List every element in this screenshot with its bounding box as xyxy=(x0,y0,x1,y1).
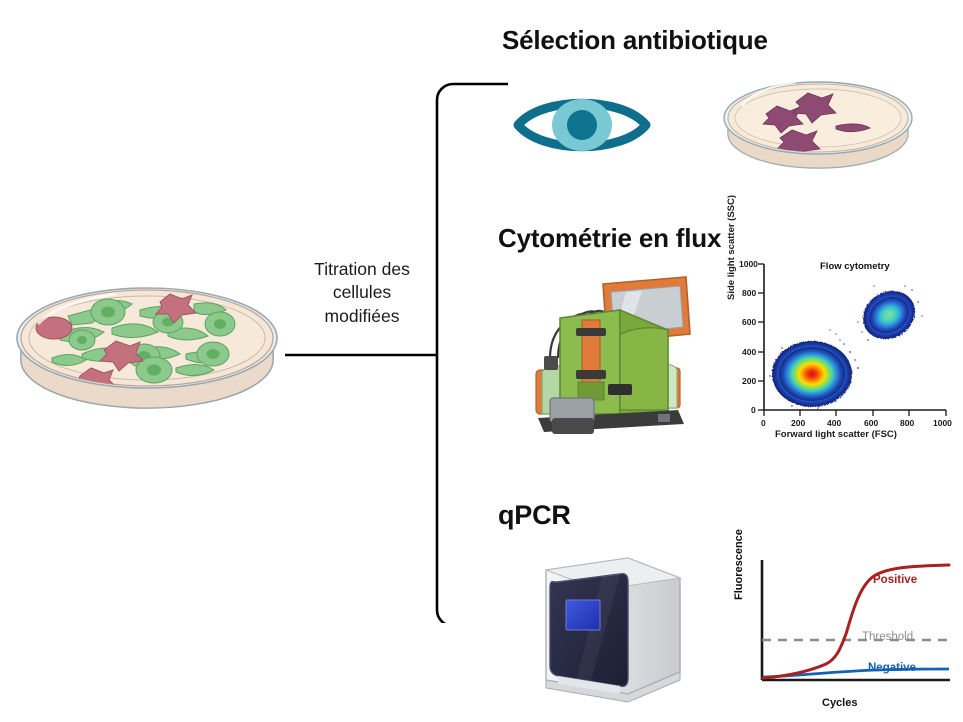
flow-xtick-600: 600 xyxy=(864,418,878,428)
flow-xtick-400: 400 xyxy=(827,418,841,428)
stem-label-line-2: cellules xyxy=(287,281,437,304)
flow-ytick-600: 600 xyxy=(742,317,756,327)
qpcr-ylabel: Fluorescence xyxy=(733,529,745,600)
flow-plot-title: Flow cytometry xyxy=(820,261,890,272)
qpcr-positive-curve xyxy=(763,565,949,678)
stem-label: Titration des cellules modifiées xyxy=(287,258,437,328)
petri-dish-colonies xyxy=(718,72,918,180)
stem-label-line-3: modifiées xyxy=(287,305,437,328)
qpcr-amplification-plot xyxy=(728,552,960,712)
flow-xtick-800: 800 xyxy=(900,418,914,428)
qpcr-legend-threshold: Threshold xyxy=(862,631,913,643)
flow-ytick-400: 400 xyxy=(742,347,756,357)
flow-plot-xlabel: Forward light scatter (FSC) xyxy=(775,429,897,440)
branch-title-qpcr: qPCR xyxy=(498,500,571,531)
flow-ytick-0: 0 xyxy=(751,405,756,415)
petri-dish-source xyxy=(8,280,286,415)
flow-xtick-200: 200 xyxy=(791,418,805,428)
flow-cytometer-instrument xyxy=(508,272,713,442)
figure-canvas: Titration des cellules modifiées Sélecti… xyxy=(0,0,963,722)
flow-xtick-0: 0 xyxy=(761,418,766,428)
flow-plot-ylabel: Side light scatter (SSC) xyxy=(726,195,737,300)
flow-ytick-200: 200 xyxy=(742,376,756,386)
bracket-connector xyxy=(280,78,510,623)
qpcr-legend-positive: Positive xyxy=(873,574,917,586)
flow-cytometry-plot xyxy=(722,256,960,442)
branch-title-cytometry: Cytométrie en flux xyxy=(498,223,721,254)
flow-ytick-800: 800 xyxy=(742,288,756,298)
qpcr-xlabel: Cycles xyxy=(822,697,857,709)
eye-icon xyxy=(512,88,652,162)
flow-xtick-1000: 1000 xyxy=(933,418,952,428)
qpcr-legend-negative: Negative xyxy=(868,662,916,674)
stem-label-line-1: Titration des xyxy=(287,258,437,281)
branch-title-selection: Sélection antibiotique xyxy=(502,25,768,56)
qpcr-thermocycler xyxy=(528,552,698,707)
flow-ytick-1000: 1000 xyxy=(739,259,758,269)
